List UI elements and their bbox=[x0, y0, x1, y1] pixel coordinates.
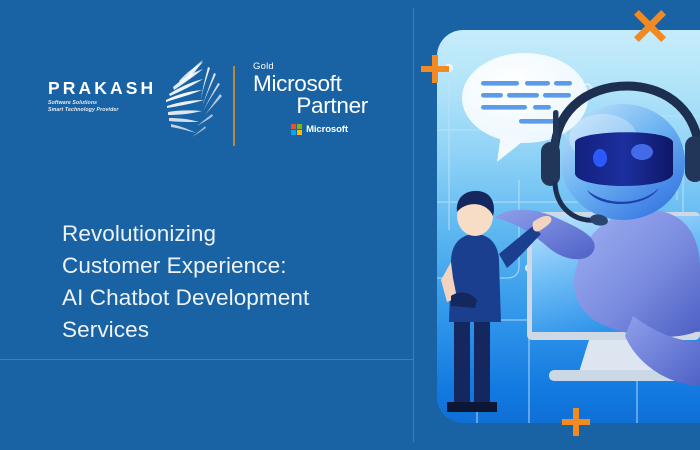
banner: PRAKASH Software Solutions Smart Technol… bbox=[0, 0, 700, 450]
headline-line-3: AI Chatbot Development bbox=[62, 282, 392, 314]
x-icon bbox=[634, 10, 666, 42]
headline-line-4: Services bbox=[62, 314, 392, 346]
vertical-divider-rule bbox=[413, 8, 414, 442]
horizontal-divider-rule bbox=[0, 359, 414, 360]
partner-line-2: Partner bbox=[253, 95, 368, 118]
partner-line-1: Microsoft bbox=[253, 73, 368, 96]
microsoft-squares-icon bbox=[291, 124, 302, 135]
microsoft-logo: Microsoft bbox=[271, 124, 368, 135]
page-title: Revolutionizing Customer Experience: AI … bbox=[62, 218, 392, 346]
microsoft-partner-badge: Gold Microsoft Partner Microsoft bbox=[253, 62, 368, 135]
headline-line-2: Customer Experience: bbox=[62, 250, 392, 282]
ai-chatbot-illustration bbox=[437, 30, 700, 423]
microsoft-wordmark: Microsoft bbox=[306, 124, 348, 135]
plus-icon bbox=[421, 55, 449, 83]
logo-lockup: PRAKASH Software Solutions Smart Technol… bbox=[48, 62, 318, 150]
sunburst-icon bbox=[156, 60, 222, 140]
lockup-divider bbox=[233, 66, 235, 146]
headline-line-1: Revolutionizing bbox=[62, 218, 392, 250]
plus-icon bbox=[562, 408, 590, 436]
